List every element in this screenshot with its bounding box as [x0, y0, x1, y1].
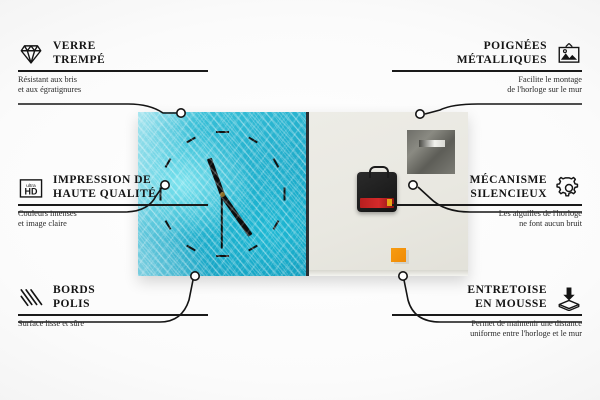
clock-tick	[272, 158, 279, 168]
gear-icon	[556, 175, 582, 201]
clock-tick	[186, 137, 196, 144]
clock-tick	[283, 188, 285, 201]
feature-title: VERRE TREMPÉ	[53, 40, 105, 67]
feature-callout-bords-polis: BORDS POLIS Surface lisse et sûre	[18, 284, 208, 329]
feature-callout-mecanisme: MÉCANISME SILENCIEUX Les aiguilles de l'…	[392, 174, 582, 229]
metal-hanger-plate	[407, 130, 455, 174]
clock-movement-box	[357, 172, 397, 212]
movement-hanger-loop	[369, 166, 389, 178]
feature-callout-impression: ultra HD IMPRESSION DE HAUTE QUALITÉ Cou…	[18, 174, 208, 229]
feature-header: ultra HD IMPRESSION DE HAUTE QUALITÉ	[18, 174, 208, 201]
feature-header: POIGNÉES MÉTALLIQUES	[392, 40, 582, 67]
clock-tick	[186, 244, 196, 251]
clock-tick	[248, 137, 258, 144]
feature-callout-verre-trempe: VERRE TREMPÉ Résistant aux bris et aux é…	[18, 40, 208, 95]
ultra-hd-icon: ultra HD	[18, 175, 44, 201]
feature-description: Permet de maintenir une distance uniform…	[392, 319, 582, 340]
back-panel-edge	[309, 270, 468, 276]
polished-edges-icon	[18, 285, 44, 311]
feature-callout-poignees: POIGNÉES MÉTALLIQUES Facilite le montage…	[392, 40, 582, 95]
feature-header: ENTRETOISE EN MOUSSE	[392, 284, 582, 311]
feature-divider	[18, 314, 208, 316]
feature-description: Couleurs intenses et image claire	[18, 209, 208, 230]
second-hand	[221, 194, 223, 249]
picture-hanger-icon	[556, 41, 582, 67]
feature-title: BORDS POLIS	[53, 284, 95, 311]
feature-title: IMPRESSION DE HAUTE QUALITÉ	[53, 174, 156, 201]
battery	[360, 198, 394, 208]
feature-description: Facilite le montage de l'horloge sur le …	[392, 75, 582, 96]
feature-divider	[18, 70, 208, 72]
feature-description: Surface lisse et sûre	[18, 319, 208, 329]
feature-description: Les aiguilles de l'horloge ne font aucun…	[392, 209, 582, 230]
clock-tick	[165, 158, 172, 168]
clock-tick	[216, 255, 229, 257]
hanger-slot	[419, 140, 445, 147]
clock-tick	[216, 131, 229, 133]
feature-divider	[392, 314, 582, 316]
hour-hand	[207, 158, 224, 195]
foam-spacer-icon	[556, 285, 582, 311]
foam-spacer	[391, 248, 406, 262]
ultra-hd-icon-main-text: HD	[25, 186, 38, 196]
feature-header: VERRE TREMPÉ	[18, 40, 208, 67]
feature-title: ENTRETOISE EN MOUSSE	[467, 284, 547, 311]
minute-hand	[220, 193, 252, 237]
feature-divider	[392, 204, 582, 206]
clock-center-hub	[220, 192, 225, 197]
feature-divider	[392, 70, 582, 72]
feature-description: Résistant aux bris et aux égratignures	[18, 75, 208, 96]
clock-tick	[248, 244, 258, 251]
clock-tick	[272, 220, 279, 230]
feature-divider	[18, 204, 208, 206]
feature-callout-entretoise: ENTRETOISE EN MOUSSE Permet de maintenir…	[392, 284, 582, 339]
feature-header: BORDS POLIS	[18, 284, 208, 311]
diamond-icon	[18, 41, 44, 67]
feature-title: POIGNÉES MÉTALLIQUES	[457, 40, 547, 67]
infographic-canvas: VERRE TREMPÉ Résistant aux bris et aux é…	[0, 0, 600, 400]
feature-title: MÉCANISME SILENCIEUX	[470, 174, 547, 201]
feature-header: MÉCANISME SILENCIEUX	[392, 174, 582, 201]
